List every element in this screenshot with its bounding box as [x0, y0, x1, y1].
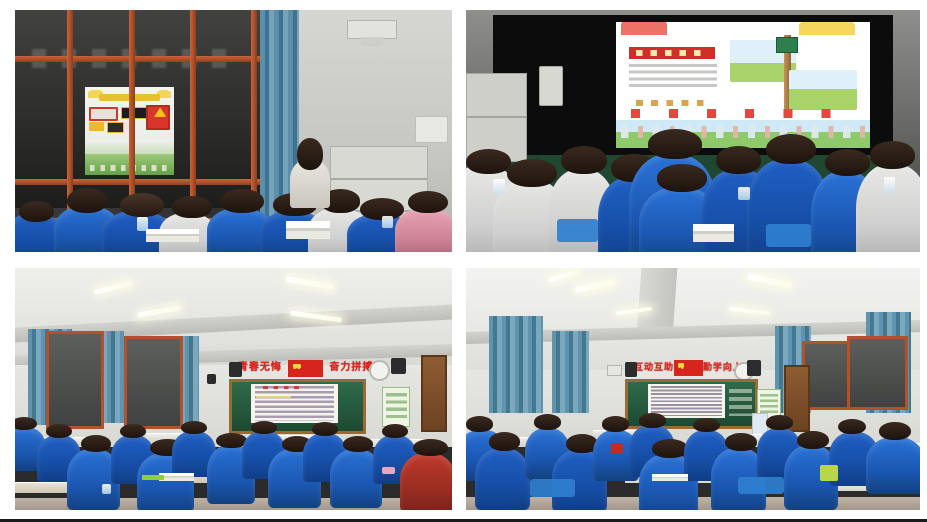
slide-title-text — [636, 50, 702, 56]
student-head — [561, 146, 606, 174]
student-head — [693, 418, 720, 432]
slide-flag-row — [631, 109, 855, 118]
photo-grid: 青春无悔 奋力拼搏 — [15, 10, 920, 510]
student-crowd — [466, 399, 920, 510]
stacked-books — [693, 224, 734, 242]
student-head — [602, 416, 629, 432]
water-bottle — [102, 484, 111, 494]
banner-text-right: 奋力拼搏 — [329, 363, 373, 373]
student-head — [120, 424, 146, 438]
student-head — [413, 439, 448, 456]
slide-sun-decoration — [799, 22, 855, 35]
banner-text-left: 互动互助 — [634, 363, 674, 372]
photo-top-left-scene — [15, 10, 452, 252]
student-head — [766, 415, 793, 429]
student-head — [19, 201, 54, 222]
student-head — [466, 416, 493, 432]
green-folder — [142, 475, 164, 479]
water-bottle — [493, 179, 504, 194]
student-head — [534, 414, 561, 430]
small-flag — [611, 443, 622, 453]
student-figure — [395, 208, 452, 252]
photo-bottom-right[interactable]: 互动互助 勤学向上 — [466, 268, 920, 510]
student-head — [648, 129, 702, 159]
air-conditioner — [415, 116, 448, 142]
student-head — [639, 413, 666, 427]
photo-top-right[interactable] — [466, 10, 920, 252]
banner-text-left: 青春无悔 — [238, 363, 282, 373]
surveillance-camera-icon — [347, 20, 397, 39]
student-head — [220, 189, 264, 213]
slide-hill-decoration — [621, 22, 667, 35]
student-head — [343, 436, 374, 452]
student-crowd — [466, 126, 920, 252]
safety-sign-3 — [89, 122, 103, 131]
student-head — [766, 134, 816, 164]
student-head — [838, 419, 865, 435]
national-flag — [674, 360, 702, 376]
photo-top-right-scene — [466, 10, 920, 252]
student-head — [120, 193, 164, 218]
teacher-head — [297, 138, 323, 169]
national-flag — [288, 360, 323, 377]
student-head — [657, 164, 707, 192]
slide-electrical-box-icon — [776, 37, 798, 53]
slide-subtitle-text — [636, 100, 712, 106]
window-frame-top-rail — [15, 56, 260, 62]
safety-sign-4 — [107, 122, 123, 133]
photo-bottom-left[interactable]: 青春无悔 奋力拼搏 — [15, 268, 452, 510]
student-head — [870, 141, 915, 169]
student-figure — [866, 437, 920, 495]
photo-bottom-left-scene: 青春无悔 奋力拼搏 — [15, 268, 452, 510]
student-head — [652, 439, 688, 458]
student-crowd — [15, 170, 452, 252]
warning-sign-red — [146, 105, 170, 130]
motivational-banner: 青春无悔 奋力拼搏 — [238, 360, 373, 377]
classroom-chair — [530, 479, 575, 497]
backpack — [820, 465, 838, 481]
wall-speaker — [539, 66, 564, 107]
student-head — [46, 424, 72, 438]
slide-illustration-2 — [789, 70, 858, 110]
student-head — [15, 417, 37, 430]
student-head — [408, 191, 447, 213]
stacked-books — [286, 221, 330, 239]
photo-top-left[interactable] — [15, 10, 452, 252]
student-head — [507, 159, 557, 187]
pink-cup — [382, 467, 395, 474]
wall-speaker — [391, 358, 406, 375]
student-figure — [475, 448, 529, 510]
student-head — [725, 433, 757, 451]
wall-mounted-device — [607, 365, 623, 377]
wall-mounted-device — [207, 374, 216, 384]
notebooks — [652, 474, 688, 481]
student-head — [81, 435, 112, 452]
student-head — [716, 146, 761, 174]
classroom-chair — [738, 477, 783, 495]
student-head — [825, 149, 870, 177]
student-head — [489, 432, 521, 451]
student-head — [67, 188, 106, 213]
photo-bottom-right-scene: 互动互助 勤学向上 — [466, 268, 920, 510]
collage-page: 青春无悔 奋力拼搏 — [0, 0, 927, 522]
student-head — [382, 424, 408, 438]
wall-speaker — [229, 362, 242, 377]
slide-highlight — [256, 396, 291, 399]
student-head — [172, 196, 211, 218]
stacked-books — [146, 229, 198, 242]
classroom-chair — [766, 224, 811, 247]
student-figure — [400, 453, 452, 510]
classroom-chair — [557, 219, 598, 242]
student-head — [466, 149, 511, 174]
student-head — [181, 421, 207, 434]
wall-speaker — [747, 360, 761, 376]
student-head — [312, 422, 338, 436]
wall-speaker — [625, 362, 637, 377]
safety-sign-1 — [89, 107, 118, 121]
water-bottle — [382, 216, 393, 228]
water-bottle — [884, 177, 895, 193]
water-bottle — [137, 217, 148, 230]
notebooks — [159, 473, 194, 480]
slide-title-text — [263, 386, 303, 389]
water-bottle — [738, 187, 749, 201]
student-head — [251, 421, 277, 434]
motivational-banner: 互动互助 勤学向上 — [634, 360, 743, 376]
student-head — [879, 422, 911, 440]
student-head — [797, 431, 829, 449]
student-crowd — [15, 408, 452, 510]
slide-body-text — [629, 64, 718, 92]
